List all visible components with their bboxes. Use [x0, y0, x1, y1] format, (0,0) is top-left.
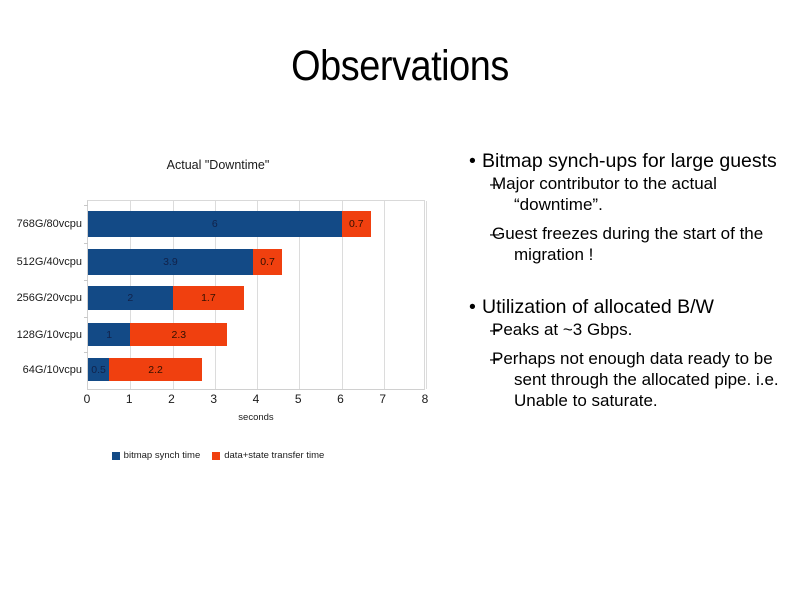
y-axis-tick — [84, 317, 88, 318]
chart-bar-row: 512G/40vcpu3.90.7 — [88, 249, 282, 275]
x-axis-tick-label: 8 — [422, 392, 429, 406]
bullet-dash-icon: – — [490, 224, 499, 245]
chart-title: Actual "Downtime" — [8, 158, 428, 172]
chart-category-label: 256G/20vcpu — [17, 292, 82, 304]
x-axis-tick-label: 3 — [210, 392, 217, 406]
gridline — [426, 201, 427, 389]
bullet-marker-icon: • — [469, 296, 476, 320]
bullet-dash-icon: – — [490, 320, 499, 341]
x-axis-tick-label: 5 — [295, 392, 302, 406]
legend-label: bitmap synch time — [124, 450, 201, 461]
chart-bar-row: 768G/80vcpu60.7 — [88, 211, 371, 237]
chart-bar-segment: 1 — [88, 323, 130, 346]
chart-category-label: 128G/10vcpu — [17, 329, 82, 341]
legend-item: bitmap synch time — [112, 450, 201, 461]
chart-value-label: 3.9 — [163, 256, 178, 268]
x-axis-tick-label: 2 — [168, 392, 175, 406]
x-axis-tick-label: 4 — [253, 392, 260, 406]
bullet-level1: •Bitmap synch-ups for large guests — [465, 150, 800, 174]
chart-value-label: 6 — [212, 218, 218, 230]
x-axis-tick-label: 7 — [379, 392, 386, 406]
chart-value-label: 1 — [106, 329, 112, 341]
chart-value-label: 0.7 — [349, 218, 364, 230]
y-axis-tick — [84, 352, 88, 353]
bullet-level2-text: Guest freezes during the start of the mi… — [492, 224, 763, 264]
gridline — [384, 201, 385, 389]
bullet-level2: –Guest freezes during the start of the m… — [452, 224, 800, 265]
chart-category-label: 512G/40vcpu — [17, 256, 82, 268]
bullet-dash-icon: – — [490, 349, 499, 370]
bullet-level2-text: Major contributor to the actual “downtim… — [492, 174, 717, 214]
y-axis-tick — [84, 205, 88, 206]
bullet-dash-icon: – — [490, 174, 499, 195]
chart-value-label: 2.3 — [172, 329, 187, 341]
bullet-level2: –Major contributor to the actual “downti… — [452, 174, 800, 215]
chart-value-label: 0.5 — [91, 364, 106, 376]
bullet-level2-text: Peaks at ~3 Gbps. — [492, 320, 632, 339]
chart-value-label: 1.7 — [201, 292, 216, 304]
chart-legend: bitmap synch timedata+state transfer tim… — [8, 450, 428, 461]
chart-plot-area: 768G/80vcpu60.7512G/40vcpu3.90.7256G/20v… — [87, 200, 425, 390]
chart-bar-segment: 1.7 — [173, 286, 245, 310]
bullet-spacer — [452, 340, 800, 349]
chart-category-label: 64G/10vcpu — [23, 364, 82, 376]
bullet-spacer — [452, 215, 800, 224]
bullet-list: •Bitmap synch-ups for large guests–Major… — [452, 150, 800, 411]
x-axis-tick-label: 0 — [84, 392, 91, 406]
bullet-spacer — [452, 266, 800, 296]
legend-swatch — [112, 452, 120, 460]
chart-category-label: 768G/80vcpu — [17, 218, 82, 230]
chart-x-axis-label: seconds — [87, 412, 425, 423]
bullet-level1-text: Utilization of allocated B/W — [482, 296, 714, 318]
bullet-level2: –Peaks at ~3 Gbps. — [452, 320, 800, 341]
chart-bar-segment: 0.7 — [342, 211, 372, 237]
chart-value-label: 0.7 — [260, 256, 275, 268]
chart-bar-row: 64G/10vcpu0.52.2 — [88, 358, 202, 381]
legend-item: data+state transfer time — [212, 450, 324, 461]
y-axis-tick — [84, 243, 88, 244]
chart-bar-segment: 2.3 — [130, 323, 227, 346]
bullet-level2: –Perhaps not enough data ready to be sen… — [452, 349, 800, 411]
chart-bar-segment: 6 — [88, 211, 342, 237]
downtime-chart: Actual "Downtime" 768G/80vcpu60.7512G/40… — [8, 158, 440, 478]
chart-x-axis: 012345678 — [87, 392, 425, 408]
chart-bar-segment: 0.5 — [88, 358, 109, 381]
bullet-level1: •Utilization of allocated B/W — [465, 296, 800, 320]
chart-bar-segment: 2.2 — [109, 358, 202, 381]
chart-value-label: 2 — [127, 292, 133, 304]
chart-bar-row: 256G/20vcpu21.7 — [88, 286, 244, 310]
legend-label: data+state transfer time — [224, 450, 324, 461]
page-title: Observations — [48, 44, 752, 89]
bullet-level1-text: Bitmap synch-ups for large guests — [482, 150, 777, 172]
x-axis-tick-label: 6 — [337, 392, 344, 406]
chart-bar-segment: 2 — [88, 286, 173, 310]
chart-bar-row: 128G/10vcpu12.3 — [88, 323, 227, 346]
bullet-level2-text: Perhaps not enough data ready to be sent… — [492, 349, 779, 409]
y-axis-tick — [84, 280, 88, 281]
bullet-marker-icon: • — [469, 150, 476, 174]
x-axis-tick-label: 1 — [126, 392, 133, 406]
chart-value-label: 2.2 — [148, 364, 163, 376]
legend-swatch — [212, 452, 220, 460]
chart-bar-segment: 3.9 — [88, 249, 253, 275]
chart-bar-segment: 0.7 — [253, 249, 283, 275]
